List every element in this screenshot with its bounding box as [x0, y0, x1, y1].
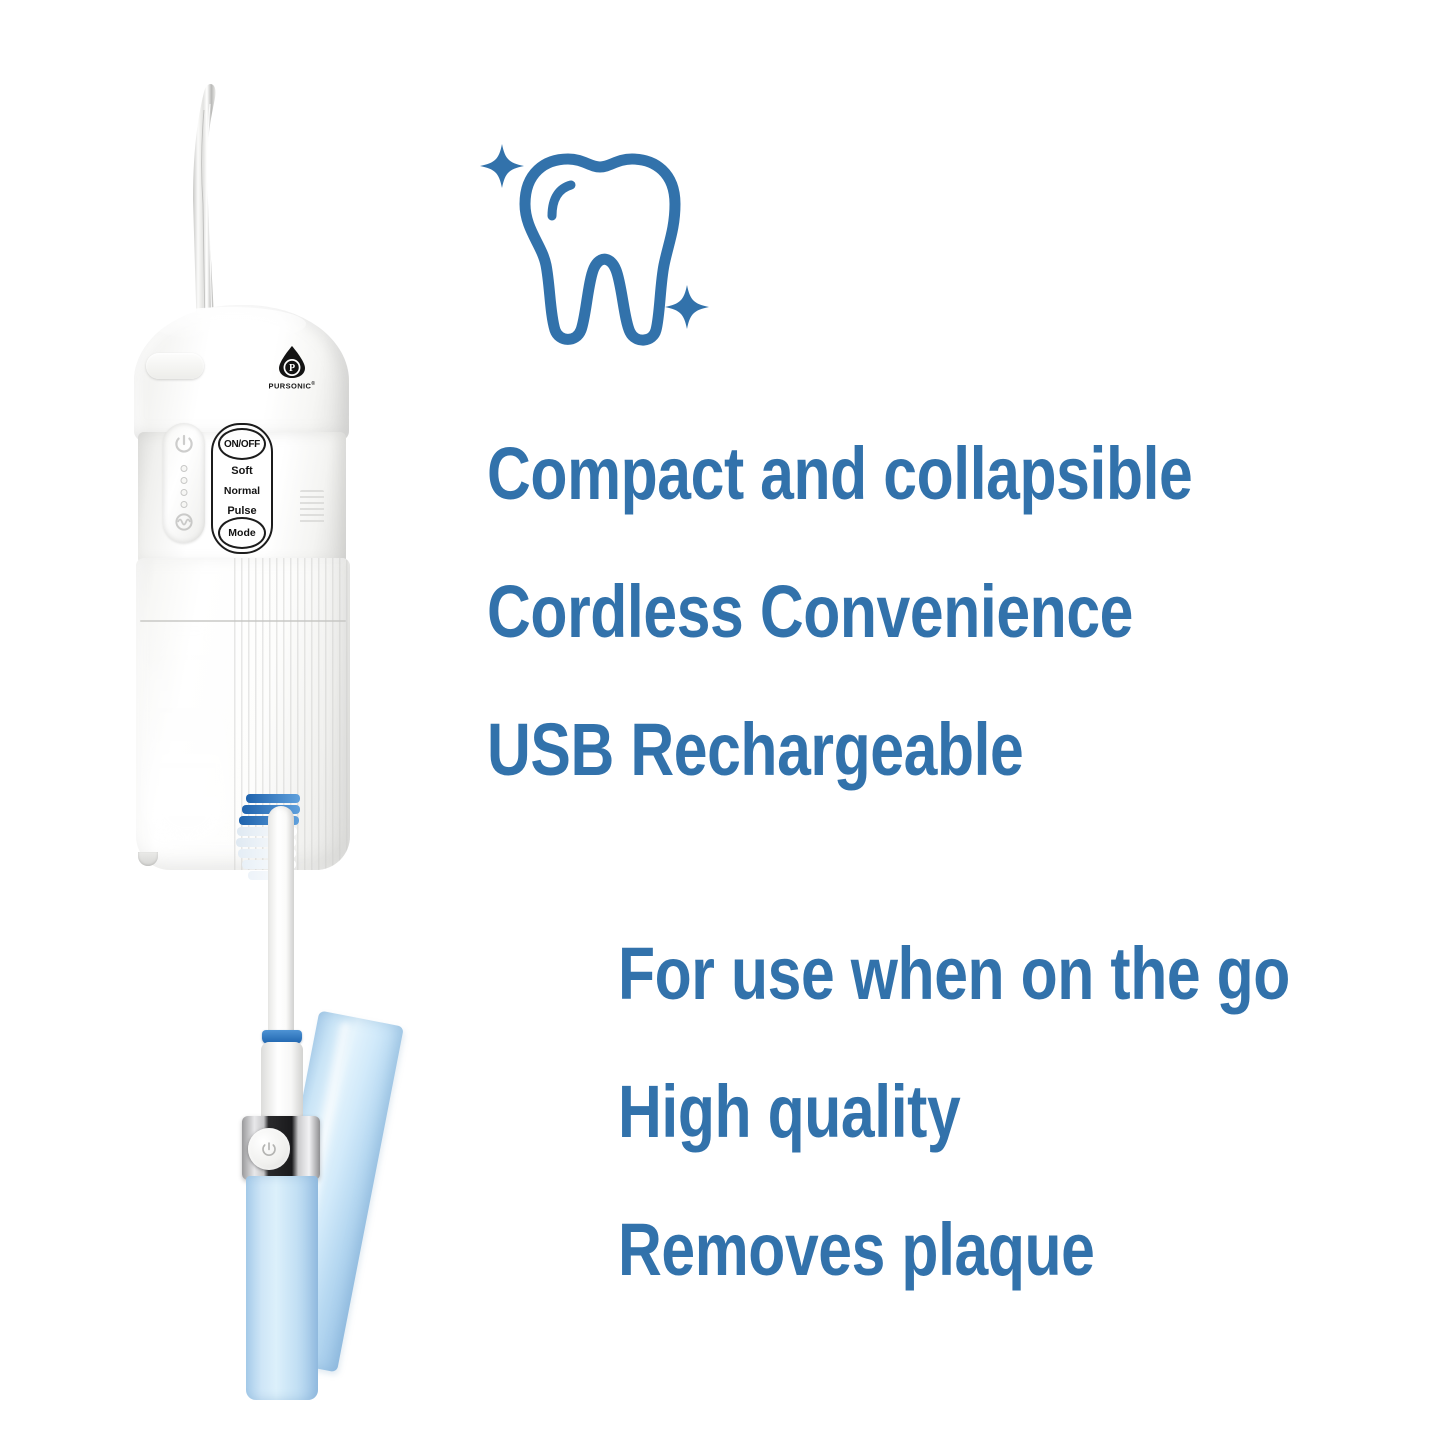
- sparkle-icon: [480, 144, 524, 188]
- toothbrush-power-button[interactable]: [248, 1128, 290, 1170]
- led-indicator: [181, 465, 188, 472]
- water-flosser-product-image: P PURSONIC® ON/OFF Soft: [120, 60, 380, 880]
- product-feature-graphic: Compact and collapsible Cordless Conveni…: [0, 0, 1445, 1445]
- toothbrush-connector: [261, 1042, 303, 1120]
- flosser-vent-grille: [300, 490, 324, 526]
- feature-text-cordless-convenience: Cordless Convenience: [487, 575, 1133, 649]
- toothbrush-handle: [246, 1176, 318, 1400]
- mode-button[interactable]: Mode: [218, 517, 266, 549]
- flosser-control-panel: ON/OFF Soft Normal Pulse Mode: [211, 423, 273, 554]
- feature-text-removes-plaque: Removes plaque: [618, 1213, 1095, 1287]
- toothbrush-head-neck: [268, 806, 294, 1042]
- flosser-side-button-strip[interactable]: [163, 423, 205, 543]
- droplet-icon: P: [277, 345, 307, 379]
- mode-label-soft: Soft: [213, 465, 271, 477]
- flosser-nozzle-tip: [184, 80, 228, 336]
- tooth-outline: [525, 159, 675, 340]
- feature-text-usb-rechargeable: USB Rechargeable: [487, 713, 1023, 787]
- led-indicator: [181, 501, 188, 508]
- registered-mark: ®: [311, 381, 315, 387]
- brand-logo: P PURSONIC®: [261, 345, 323, 407]
- feature-text-high-quality: High quality: [618, 1075, 960, 1149]
- mode-label-normal: Normal: [213, 485, 271, 497]
- sparkle-icon: [665, 285, 709, 329]
- brand-name: PURSONIC: [269, 382, 312, 391]
- wave-icon: [173, 511, 195, 533]
- reservoir-water-line: [140, 620, 346, 622]
- electric-toothbrush-product-image: [228, 790, 368, 1410]
- power-icon: [259, 1139, 279, 1159]
- brand-wordmark: PURSONIC®: [261, 381, 323, 391]
- mode-label-pulse: Pulse: [213, 505, 271, 517]
- reservoir-sheen: [144, 628, 230, 843]
- flosser-release-button[interactable]: [146, 353, 204, 379]
- on-off-button[interactable]: ON/OFF: [218, 428, 266, 460]
- led-indicator: [181, 489, 188, 496]
- tooth-icon-group: [478, 125, 718, 350]
- power-icon: [173, 433, 195, 455]
- feature-text-compact-and-collapsible: Compact and collapsible: [487, 437, 1192, 511]
- brand-monogram: P: [289, 363, 295, 374]
- feature-text-for-use-when-on-the-go: For use when on the go: [618, 937, 1290, 1011]
- led-indicator: [181, 477, 188, 484]
